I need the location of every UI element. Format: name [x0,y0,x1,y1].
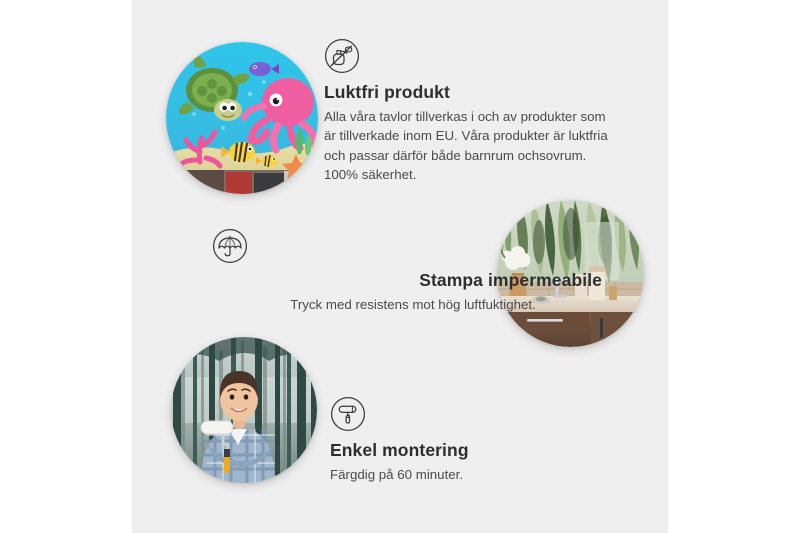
feature-title: Enkel montering [330,440,630,462]
screenshot-root: Luktfri produkt Alla våra tavlor tillver… [0,0,800,533]
feature-odourless: Luktfri produkt Alla våra tavlor tillver… [324,38,614,185]
photo-underwater [166,42,318,194]
paint-roller-icon [330,396,630,432]
feature-description: Färgdig på 60 minuter. [330,465,630,485]
infographic-canvas: Luktfri produkt Alla våra tavlor tillver… [132,0,668,533]
feature-title: Luktfri produkt [324,82,614,104]
feature-title: Stampa impermeabile [212,270,602,292]
feature-assembly: Enkel montering Färgdig på 60 minuter. [330,396,630,484]
no-perfume-icon [324,38,614,74]
feature-description: Alla våra tavlor tillverkas i och av pro… [324,107,614,185]
feature-description: Tryck med resistens mot hög luftfuktighe… [212,295,602,315]
photo-painter [171,337,317,483]
feature-waterproof: Stampa impermeabile Tryck med resistens … [212,228,602,314]
umbrella-icon [212,228,602,264]
